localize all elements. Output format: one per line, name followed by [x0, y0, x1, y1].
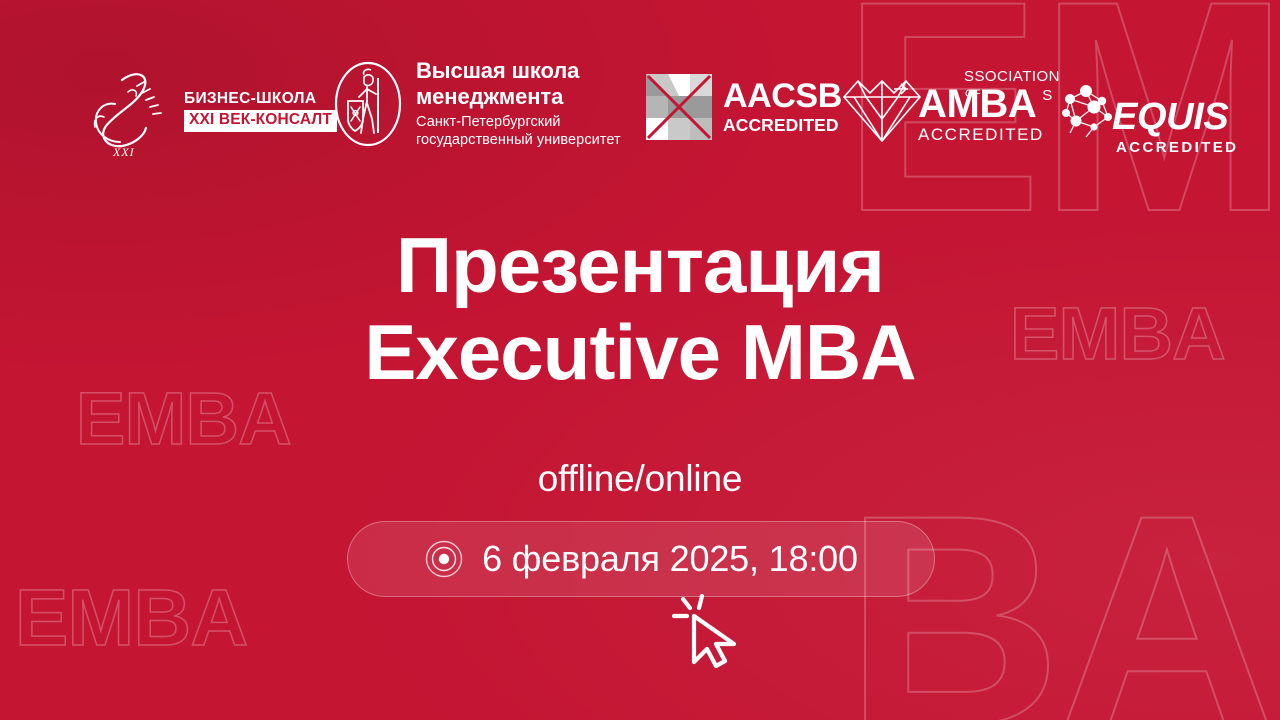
consulting-line2: XXI ВЕК-КОНСАЛТ	[184, 110, 337, 131]
gsom-title-line1: Высшая школа	[416, 58, 621, 84]
aacsb-wordmark: AACSB ACCREDITED	[723, 79, 842, 135]
page-title: Презентация Executive MBA	[0, 222, 1280, 397]
amba-initial: A	[918, 82, 947, 126]
watermark-emba-left-lower: EMBA	[15, 578, 247, 658]
logo-equis: EQUIS ACCREDITED	[1056, 72, 1238, 156]
page-title-line1: Презентация	[396, 221, 884, 309]
amba-mba: MBA	[947, 82, 1037, 126]
logo-gsom-spbu: Высшая школа менеджмента Санкт-Петербург…	[334, 58, 621, 149]
amba-of-text: OF	[965, 88, 981, 100]
amba-status: ACCREDITED	[918, 125, 1044, 145]
amba-wordmark: SSOCIATION OF AMBAS ACCREDITED	[918, 70, 1044, 145]
gsom-emblem-icon	[334, 61, 402, 147]
aacsb-status: ACCREDITED	[723, 117, 842, 135]
hero-block: Презентация Executive MBA	[0, 222, 1280, 397]
consulting-script-icon: XXI	[82, 62, 178, 160]
amba-association-text: SSOCIATION	[964, 68, 1060, 85]
event-date-badge[interactable]: 6 февраля 2025, 18:00	[347, 521, 935, 597]
aacsb-name: AACSB	[723, 79, 842, 113]
logo-strip: XXI БИЗНЕС-ШКОЛА XXI ВЕК-КОНСАЛТ	[0, 56, 1280, 168]
consulting-wordmark: БИЗНЕС-ШКОЛА XXI ВЕК-КОНСАЛТ	[184, 90, 337, 131]
consulting-line1: БИЗНЕС-ШКОЛА	[184, 90, 337, 107]
hero-subtitle: offline/online	[0, 458, 1280, 500]
logo-aacsb: AACSB ACCREDITED	[646, 74, 842, 140]
event-date-text: 6 февраля 2025, 18:00	[482, 538, 858, 580]
page-title-line2: Executive MBA	[0, 309, 1280, 396]
amba-superscript: S	[1042, 88, 1052, 103]
slide-canvas: EM BA EMBA EMBA EMBA XXI БИЗНЕС-ШКОЛА XX…	[0, 0, 1280, 720]
gsom-sub-line1: Санкт-Петербургский	[416, 114, 621, 132]
gsom-title-line2: менеджмента	[416, 84, 621, 110]
gsom-sub-line2: государственный университет	[416, 132, 621, 150]
gsom-wordmark: Высшая школа менеджмента Санкт-Петербург…	[416, 58, 621, 149]
equis-wordmark: EQUIS ACCREDITED	[1112, 72, 1238, 156]
equis-name: EQUIS	[1112, 98, 1238, 136]
broadcast-icon	[424, 539, 464, 579]
aacsb-diamond-icon	[646, 74, 712, 140]
logo-amba: SSOCIATION OF AMBAS ACCREDITED	[840, 70, 1044, 145]
amba-gem-icon	[840, 71, 924, 145]
consulting-xxi-mark: XXI	[112, 145, 135, 159]
logo-consulting-xxi: XXI БИЗНЕС-ШКОЛА XXI ВЕК-КОНСАЛТ	[82, 62, 337, 160]
equis-status: ACCREDITED	[1112, 139, 1238, 156]
click-cursor-icon	[662, 586, 748, 672]
